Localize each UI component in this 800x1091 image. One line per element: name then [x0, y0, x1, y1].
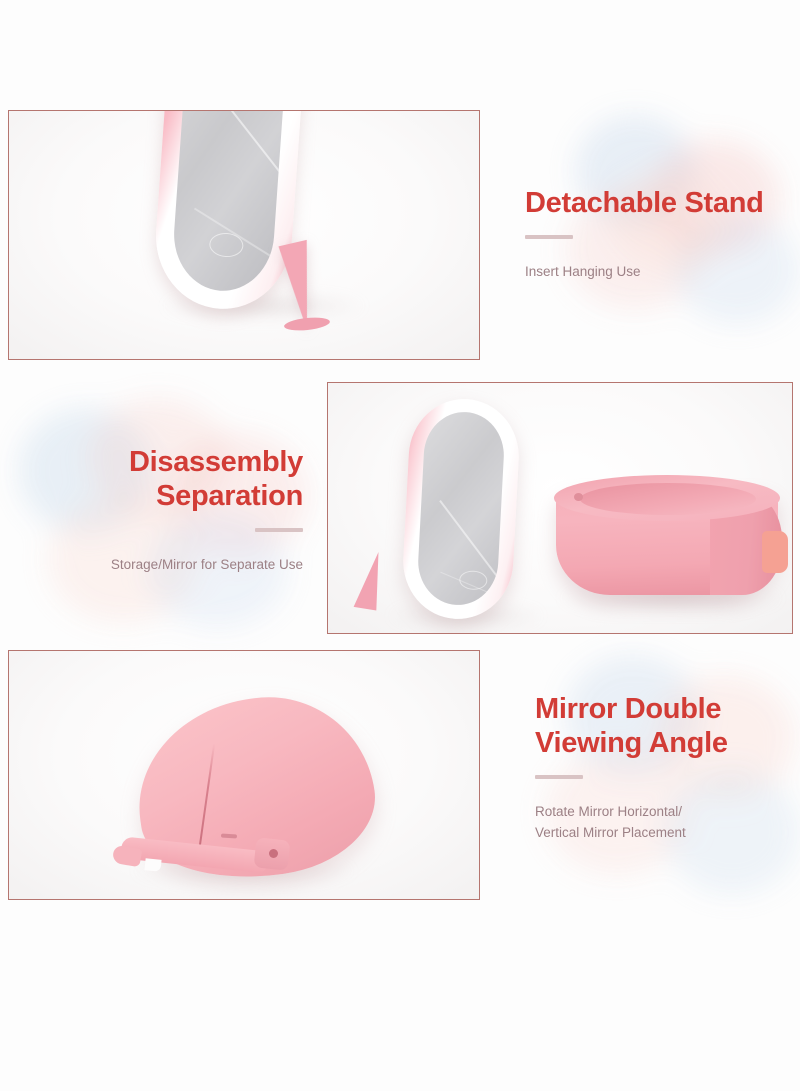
photo-mirror-back-folding-stand [8, 650, 480, 900]
product-feature-collage: Detachable Stand Insert Hanging Use Disa… [0, 0, 800, 1091]
folding-stand-notch [144, 858, 161, 872]
reflection-line [439, 500, 506, 607]
feature-block-detachable-stand: Detachable Stand Insert Hanging Use [525, 186, 787, 296]
heading-divider [535, 775, 583, 779]
mirror-frame [400, 396, 521, 621]
feature-heading: Disassembly Separation [28, 445, 303, 513]
feature-heading: Detachable Stand [525, 186, 787, 220]
feature-block-mirror-double-viewing-angle: Mirror Double Viewing Angle Rotate Mirro… [535, 692, 790, 857]
heading-divider [255, 528, 303, 532]
touch-sensor-button [459, 570, 488, 590]
storage-box-interior [580, 483, 756, 515]
feature-subtitle: Insert Hanging Use [525, 261, 787, 282]
reflection-line [201, 110, 288, 246]
feature-subtitle: Storage/Mirror for Separate Use [28, 554, 303, 575]
mirror-glass [170, 110, 288, 294]
photo-mirror-and-storage-box [327, 382, 793, 634]
storage-box-side-tab [762, 531, 788, 573]
storage-box-hole [574, 493, 583, 501]
feature-heading: Mirror Double Viewing Angle [535, 692, 790, 760]
stand-hinge-pin [269, 849, 278, 858]
feature-block-disassembly-separation: Disassembly Separation Storage/Mirror fo… [28, 445, 303, 589]
photo-mirror-with-kickstand [8, 110, 480, 360]
feature-subtitle: Rotate Mirror Horizontal/ Vertical Mirro… [535, 801, 790, 843]
heading-divider [525, 235, 573, 239]
mirror-glass [416, 410, 506, 607]
